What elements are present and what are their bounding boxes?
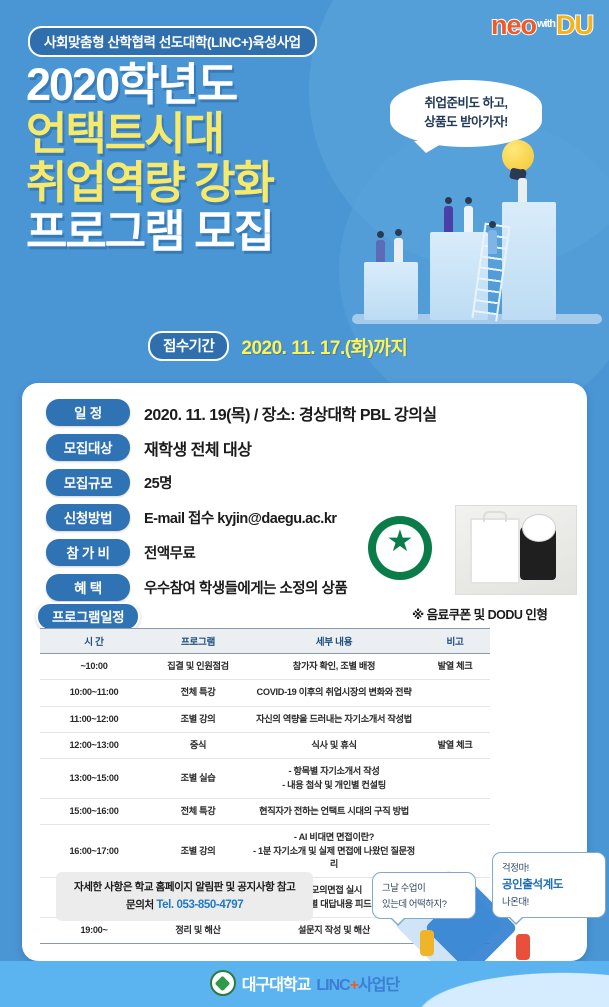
schedule-cell-time: 15:00~16:00 [40,799,148,825]
schedule-cell-detail: 자신의 역량을 드러내는 자기소개서 작성법 [248,706,420,732]
illustration-person-5 [518,178,527,202]
poster-root: 사회맞춤형 산학협력 선도대학(LINC+)육성사업 neo with DU 2… [0,0,609,1007]
info-row: 모집대상 재학생 전체 대상 [46,430,446,465]
schedule-chip: 프로그램일정 [36,602,140,631]
table-row: 12:00~13:00중식식사 및 휴식발열 체크 [40,733,490,759]
title-line-2: 언택트시대 [26,111,273,157]
student-answer-bubble: 걱정마! 공인출석계도 나온대! [492,852,606,918]
contact-tel: Tel. 053-850-4797 [156,899,243,911]
column-header-detail: 세부 내용 [248,629,420,654]
schedule-header-row: 시 간 프로그램 세부 내용 비고 [40,629,490,654]
promo-bubble-line-2: 상품도 받아가자! [402,113,530,132]
schedule-cell-detail: 식사 및 휴식 [248,733,420,759]
promo-bubble-line-1: 취업준비도 하고, [402,94,530,113]
schedule-cell-detail: 참가자 확인, 조별 배정 [248,654,420,680]
illustration-person-4 [464,206,473,232]
schedule-cell-program: 중식 [148,733,248,759]
table-row: 13:00~15:00조별 실습- 항목별 자기소개서 작성- 내용 첨삭 및 … [40,759,490,799]
table-row: 16:00~17:00조별 강의- AI 비대면 면접이란?- 1분 자기소개 … [40,825,490,878]
schedule-cell-detail: COVID-19 이후의 취업시장의 변화와 전략 [248,680,420,706]
poster-title: 2020학년도 언택트시대 취업역량 강화 프로그램 모집 [26,62,273,258]
schedule-cell-detail: - 항목별 자기소개서 작성- 내용 첨삭 및 개인별 컨설팅 [248,759,420,799]
schedule-cell-note [420,799,490,825]
starbucks-logo-icon [368,516,432,580]
illustration-person-2 [394,238,403,262]
schedule-cell-program: 정리 및 해산 [148,918,248,944]
lightbulb-icon [498,140,538,184]
info-row: 일 정 2020. 11. 19(목) / 장소: 경상대학 PBL 강의실 [46,395,446,430]
info-value: 25명 [144,472,172,493]
schedule-cell-time: 16:00~17:00 [40,825,148,878]
contact-box: 자세한 사항은 학교 홈페이지 알림판 및 공지사항 참고 문의처 Tel. 0… [56,872,313,921]
university-emblem-icon [210,970,236,996]
illustration-person-climbing [488,230,497,254]
info-label: 혜 택 [46,574,130,601]
gift-note: ※ 음료쿠폰 및 DODU 인형 [412,604,547,623]
schedule-cell-note [420,825,490,878]
info-value: 재학생 전체 대상 [144,436,251,460]
schedule-cell-program: 전체 특강 [148,680,248,706]
schedule-cell-detail: - AI 비대면 면접이란?- 1분 자기소개 및 실제 면접에 나왔던 질문정… [248,825,420,878]
reception-period-chip: 접수기간 [148,331,229,361]
program-badge: 사회맞춤형 산학협력 선도대학(LINC+)육성사업 [28,26,317,57]
dodu-doll-photo [455,505,577,595]
illustration-step-bar-3 [502,202,556,320]
column-header-program: 프로그램 [148,629,248,654]
schedule-cell-note [420,759,490,799]
schedule-cell-note: 발열 체크 [420,654,490,680]
student-answer-line-2: 공인출석계도 [502,876,596,895]
schedule-cell-detail: 현직자가 전하는 언택트 시대의 구직 방법 [248,799,420,825]
student-question-bubble: 그날 수업이 있는데 어떡하지? [372,872,476,919]
schedule-cell-note: 발열 체크 [420,733,490,759]
info-value: 우수참여 학생들에게는 소정의 상품 [144,577,347,598]
table-row: 15:00~16:00전체 특강현직자가 전하는 언택트 시대의 구직 방법 [40,799,490,825]
schedule-cell-time: 12:00~13:00 [40,733,148,759]
logo-neo-text: neo [491,12,536,39]
contact-line-2: 문의처 Tel. 053-850-4797 [74,896,295,914]
column-header-time: 시 간 [40,629,148,654]
schedule-cell-time: 11:00~12:00 [40,706,148,732]
title-line-4: 프로그램 모집 [26,209,273,255]
schedule-cell-time: 19:00~ [40,918,148,944]
student-answer-line-1: 걱정마! [502,860,596,876]
schedule-cell-time: ~10:00 [40,654,148,680]
student-question-line-1: 그날 수업이 [382,880,466,896]
table-row: 11:00~12:00조별 강의자신의 역량을 드러내는 자기소개서 작성법 [40,706,490,732]
career-growth-illustration [352,185,602,320]
illustration-person-red [516,934,530,960]
schedule-cell-program: 집결 및 인원점검 [148,654,248,680]
title-line-3: 취업역량 강화 [26,160,273,206]
info-label: 모집대상 [46,434,130,461]
reception-period: 접수기간 2020. 11. 17.(화)까지 [148,331,407,361]
column-header-note: 비고 [420,629,490,654]
title-line-1: 2020학년도 [26,62,273,108]
schedule-cell-note [420,680,490,706]
reception-period-value: 2020. 11. 17.(화)까지 [241,333,407,360]
info-value: 전액무료 [144,542,195,563]
footer-linc-logo: LINC+사업단 [316,971,399,995]
info-label: 참 가 비 [46,539,130,566]
schedule-cell-program: 조별 강의 [148,825,248,878]
student-question-line-2: 있는데 어떡하지? [382,896,466,912]
promo-speech-bubble: 취업준비도 하고, 상품도 받아가자! [390,80,542,147]
illustration-step-bar-1 [364,262,418,320]
neo-with-du-logo: neo with DU [491,12,593,39]
logo-du-text: DU [556,12,593,39]
info-value: E-mail 접수 kyjin@daegu.ac.kr [144,507,337,528]
schedule-cell-program: 조별 실습 [148,759,248,799]
table-row: 10:00~11:00전체 특강COVID-19 이후의 취업시장의 변화와 전… [40,680,490,706]
schedule-cell-program: 전체 특강 [148,799,248,825]
info-value: 2020. 11. 19(목) / 장소: 경상대학 PBL 강의실 [144,401,437,425]
student-answer-line-3: 나온대! [502,894,596,910]
footer-bar: 대구대학교 LINC+사업단 [0,961,609,1007]
schedule-cell-program: 조별 강의 [148,706,248,732]
info-label: 일 정 [46,399,130,426]
illustration-person-yellow [420,930,434,956]
contact-line-1: 자세한 사항은 학교 홈페이지 알림판 및 공지사항 참고 [74,879,295,896]
info-row: 모집규모 25명 [46,465,446,500]
table-row: ~10:00집결 및 인원점검참가자 확인, 조별 배정발열 체크 [40,654,490,680]
illustration-person-3 [444,206,453,232]
logo-with-text: with [537,19,555,30]
illustration-person-1 [376,240,385,262]
footer-university-name: 대구대학교 [242,971,311,995]
schedule-cell-time: 10:00~11:00 [40,680,148,706]
schedule-cell-time: 13:00~15:00 [40,759,148,799]
contact-label: 문의처 [126,899,154,911]
schedule-cell-note [420,706,490,732]
footer-logo: 대구대학교 LINC+사업단 [0,970,609,996]
info-label: 모집규모 [46,469,130,496]
info-label: 신청방법 [46,504,130,531]
